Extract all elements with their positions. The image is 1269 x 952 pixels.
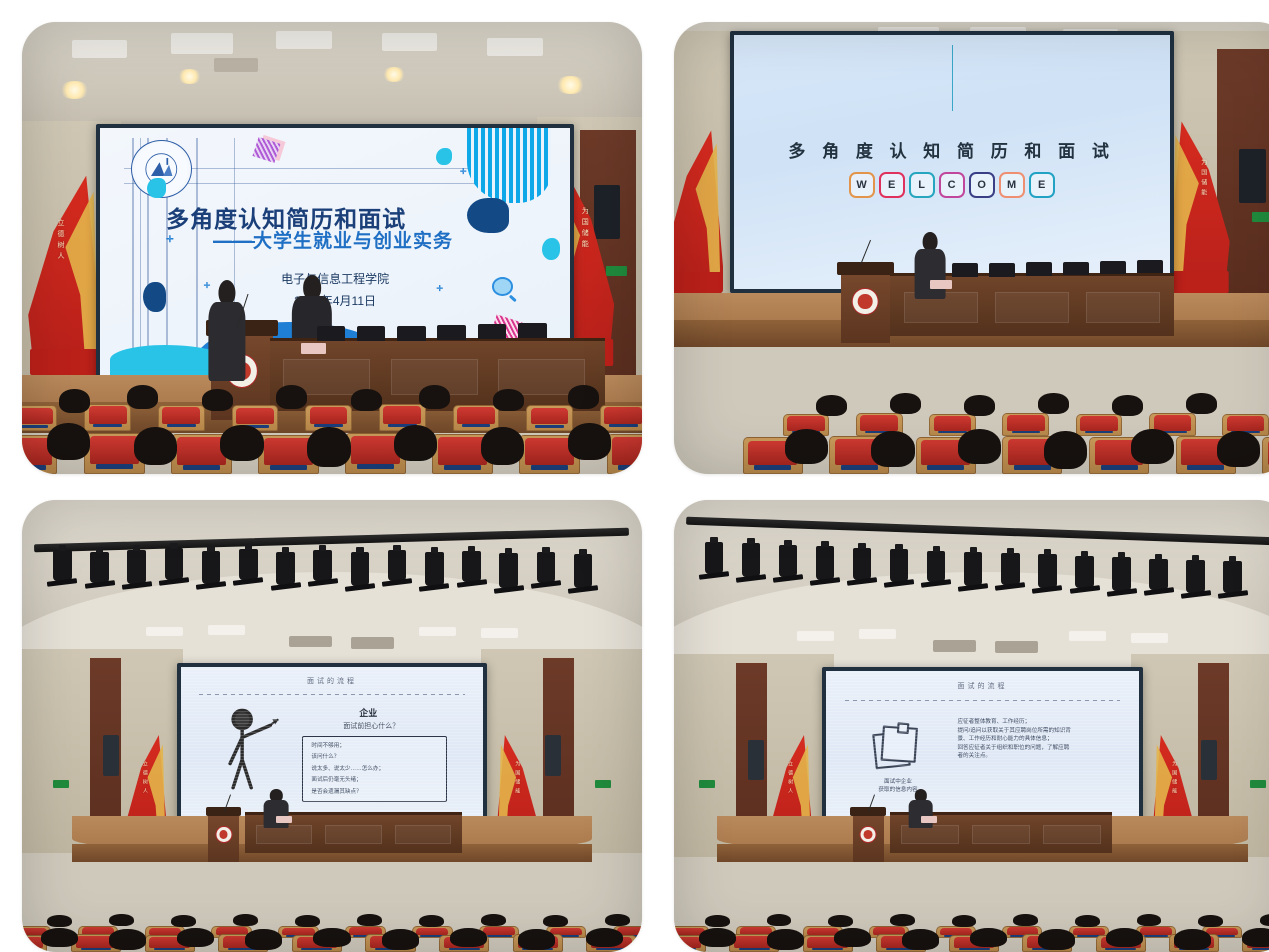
audience-head	[952, 915, 977, 927]
slide-subheading: ——大学生就业与创业实务	[213, 226, 453, 253]
slide-rule	[199, 694, 465, 695]
desk-monitor	[952, 263, 978, 277]
stage-light	[574, 554, 593, 587]
desk-monitor	[1026, 262, 1052, 276]
desk-monitor	[1137, 260, 1163, 274]
slide-decor-wave	[467, 128, 551, 203]
name-placard	[276, 816, 292, 822]
wall-speaker-right	[1239, 149, 1266, 203]
exit-sign	[1250, 780, 1266, 788]
stage-light	[779, 545, 798, 577]
stage-light	[890, 549, 909, 582]
notes-icon	[867, 718, 930, 776]
slide-bullet-box: 时间不够用； 该问什么？ 说太多、说太少……怎么办； 面试后仍毫无头绪； 是否会…	[302, 736, 447, 802]
ceiling-downlight	[382, 67, 407, 81]
bullet-item: 面试后仍毫无头绪；	[311, 775, 361, 783]
audience-head	[568, 423, 611, 459]
stage-light	[90, 552, 109, 584]
audience-head	[816, 395, 847, 416]
stage-light	[462, 551, 481, 583]
sail-characters: 为国储能	[515, 761, 522, 797]
audience-head	[705, 915, 730, 927]
stage-light	[53, 550, 72, 582]
ceiling-panel	[208, 625, 245, 635]
stage-light	[388, 550, 407, 582]
audience-head	[481, 914, 506, 926]
exit-sign	[699, 780, 715, 788]
welcome-letter-e1: E	[879, 172, 905, 198]
audience-head	[1260, 914, 1269, 926]
stage-light	[425, 552, 444, 585]
audience-head	[871, 431, 914, 467]
led-screen-frame: 面试的流程 企业 面试前担心什么？	[177, 663, 487, 821]
audience-head	[964, 395, 995, 416]
audience	[674, 839, 1269, 952]
slide-decor-blob	[147, 178, 166, 198]
audience-head	[134, 427, 177, 465]
photo-bottom-left[interactable]: 立德树人 为国储能 面试的流程	[22, 500, 642, 952]
bullet-item: 是否会遗漏其缺点？	[311, 787, 361, 795]
audience-head	[171, 915, 196, 927]
slide-body: 应征者整体教育、工作经历； 提问/追问以获取关于其应聘岗位所需的知识背 景、工作…	[957, 718, 1126, 761]
audience-head	[109, 929, 146, 949]
body-line: 回答应征者关于组织和职位的问题，了解应聘	[957, 744, 1126, 753]
stage-light	[1186, 560, 1205, 593]
audience-head	[902, 929, 939, 949]
sail-characters: 立德树人	[55, 219, 65, 263]
body-line: 者的关注点。	[957, 752, 1126, 761]
sail-characters: 为国储能	[580, 207, 590, 251]
audience	[22, 839, 642, 952]
welcome-letter-e2: E	[1029, 172, 1055, 198]
audience-head	[1106, 928, 1143, 947]
ceiling-panel	[72, 40, 128, 58]
audience-head	[1038, 393, 1069, 414]
audience-head	[59, 389, 90, 413]
ceiling-vent	[214, 58, 257, 72]
stage-light	[853, 548, 872, 580]
audience-head	[1038, 929, 1075, 949]
slide-decor-blob	[467, 198, 509, 233]
audience-head	[276, 385, 307, 409]
body-line: 提问/追问以获取关于其应聘岗位所需的知识背	[957, 727, 1126, 736]
audience-head	[1198, 915, 1223, 927]
audience-head	[177, 928, 214, 947]
audience	[674, 302, 1269, 474]
exit-sign	[595, 780, 611, 788]
photo-top-left[interactable]: 立德树人 为国储能	[22, 22, 642, 474]
audience-head	[767, 929, 804, 949]
stage-light	[1075, 556, 1094, 588]
audience-head	[1013, 914, 1038, 926]
caption-line: 面试中企业	[851, 779, 945, 787]
stage-light	[1001, 553, 1020, 585]
led-screen-frame: 多 角 度 认 知 简 历 和 面 试 W E L C O M E	[730, 31, 1174, 293]
audience-head	[419, 915, 444, 927]
ceiling-panel	[1131, 633, 1168, 643]
ceiling-downlight	[59, 81, 90, 99]
welcome-slide: 多 角 度 认 知 简 历 和 面 试 W E L C O M E	[734, 35, 1170, 289]
audience-head	[890, 914, 915, 926]
stage-light	[1223, 561, 1242, 593]
ceiling-panel	[859, 629, 896, 639]
audience-head	[767, 914, 792, 926]
sail-characters: 为国储能	[1171, 761, 1178, 797]
name-placard	[930, 280, 952, 289]
ceiling-panel	[419, 627, 456, 637]
stage-light	[1038, 554, 1057, 587]
stage-light	[276, 552, 295, 585]
audience-head	[958, 429, 1001, 463]
audience-head	[785, 429, 828, 463]
ceiling-panel	[481, 628, 518, 638]
wall-speaker-left	[748, 740, 764, 781]
stage-light	[705, 542, 724, 574]
audience-head	[605, 914, 630, 926]
audience-head	[351, 389, 382, 411]
audience-head	[419, 385, 450, 409]
slide-rule	[845, 700, 1120, 701]
audience-head	[127, 385, 158, 409]
seat	[1262, 437, 1269, 475]
name-placard	[921, 816, 937, 822]
audience-head	[1044, 431, 1087, 469]
audience-head	[109, 914, 134, 926]
welcome-letter-m: M	[999, 172, 1025, 198]
audience-head	[481, 427, 524, 465]
audience-head	[202, 389, 233, 411]
ceiling-panel	[487, 38, 543, 56]
stage-light	[165, 548, 184, 580]
audience-head	[382, 929, 419, 949]
audience-head	[699, 928, 736, 947]
audience-head	[970, 928, 1007, 947]
exit-sign	[53, 780, 69, 788]
stage-light	[927, 551, 946, 583]
ceiling-vent	[289, 636, 332, 648]
body-line: 景、工作经历和耐心能力的具体信息；	[957, 735, 1126, 744]
ceiling-panel	[1069, 631, 1106, 641]
sail-characters: 立德树人	[142, 761, 149, 797]
audience-head	[493, 389, 524, 411]
audience-head	[313, 928, 350, 947]
audience-head	[1217, 431, 1260, 467]
photo-top-right[interactable]: 为国储能 多 角 度 认 知 简 历 和 面 试 W E L C O M E	[674, 22, 1269, 474]
audience-head	[233, 914, 258, 926]
audience-head	[394, 425, 437, 461]
audience-head	[890, 393, 921, 414]
stage-light	[1149, 559, 1168, 591]
ceiling-panel	[797, 631, 834, 641]
audience-head	[41, 928, 78, 947]
stage-light	[127, 550, 146, 584]
ceiling-downlight	[177, 69, 202, 83]
audience-head	[307, 427, 350, 467]
stage-light	[202, 551, 221, 584]
audience-head	[1131, 429, 1174, 463]
audience-head	[568, 385, 599, 409]
ceiling-panel	[276, 31, 332, 49]
ceiling-panel	[171, 33, 233, 53]
audience	[22, 293, 642, 474]
stage-light	[1112, 557, 1131, 591]
slide-header: 面试的流程	[181, 676, 483, 686]
sail-decoration-left	[674, 130, 723, 293]
audience-head	[245, 929, 282, 949]
slide-header: 面试的流程	[826, 681, 1139, 691]
slide-kicker: 企业	[308, 706, 429, 719]
ceiling-vent	[995, 641, 1038, 653]
slide-decor-plus: ✛	[460, 168, 467, 176]
stage-light	[313, 550, 332, 582]
sail-characters: 立德树人	[787, 761, 794, 797]
stage-light	[964, 552, 983, 586]
slide-decor-blob	[436, 148, 452, 165]
audience-head	[295, 915, 320, 927]
audience-head	[1075, 915, 1100, 927]
sail-decoration-right: 为国储能	[1168, 121, 1230, 293]
welcome-letter-l: L	[909, 172, 935, 198]
podium-top	[837, 262, 894, 275]
audience-head	[1242, 928, 1269, 947]
welcome-letters: W E L C O M E	[734, 172, 1170, 198]
stage-light	[239, 549, 258, 581]
stickman-illustration	[220, 706, 280, 799]
audience-head	[1112, 395, 1143, 416]
audience-head	[47, 423, 90, 459]
slide-org: 电子与信息工程学院	[100, 270, 569, 287]
ceiling-panel	[146, 627, 183, 637]
wall-speaker-right	[545, 735, 561, 776]
ceiling-vent	[933, 640, 976, 652]
desk-monitor	[989, 263, 1015, 277]
welcome-letter-c: C	[939, 172, 965, 198]
slide-decor-dropline	[952, 45, 954, 111]
slide-question: 面试前担心什么？	[302, 721, 441, 731]
body-line: 应征者整体教育、工作经历；	[957, 718, 1126, 727]
audience-head	[357, 914, 382, 926]
interview-process-slide: 面试的流程 企业 面试前担心什么？	[181, 667, 483, 817]
podium-top	[206, 807, 242, 816]
audience-head	[834, 928, 871, 947]
stage-light	[816, 546, 835, 580]
welcome-heading: 多 角 度 认 知 简 历 和 面 试	[734, 137, 1170, 162]
led-screen-frame: 面试的流程 面试中企业 获取的信息内容 应征者整体教育、工作经历； 提问/追问以…	[822, 667, 1143, 821]
stage-light	[351, 552, 370, 586]
photo-collage: 立德树人 为国储能	[0, 0, 1269, 952]
desk-monitor	[1063, 262, 1089, 276]
stage-light	[537, 552, 556, 584]
audience-head	[828, 915, 853, 927]
exit-sign	[1252, 212, 1269, 222]
stage-light	[499, 553, 518, 587]
bullet-item: 时间不够用；	[311, 741, 345, 749]
bullet-item: 说太多、说太少……怎么办；	[311, 764, 384, 772]
photo-bottom-right[interactable]: 立德树人 为国储能 面试的流程 面试中企业 获取的信息内容	[674, 500, 1269, 952]
slide-decor-blob	[542, 238, 561, 260]
sail-characters: 为国储能	[1198, 159, 1207, 199]
audience-head	[1137, 914, 1162, 926]
slide-decor-plus: ✛	[166, 235, 174, 244]
audience-head	[518, 929, 555, 949]
audience-head	[543, 915, 568, 927]
bullet-item: 该问什么？	[311, 752, 339, 760]
welcome-letter-w: W	[849, 172, 875, 198]
audience-head	[450, 928, 487, 947]
stage-light	[742, 543, 761, 576]
desk-monitor	[1100, 261, 1126, 275]
audience-head	[586, 928, 623, 947]
wall-speaker-left	[103, 735, 119, 776]
welcome-letter-o: O	[969, 172, 995, 198]
wall-speaker-right	[1201, 740, 1217, 781]
ceiling-vent	[351, 637, 394, 649]
seat	[607, 434, 642, 474]
ceiling-panel	[382, 33, 438, 51]
audience-head	[47, 915, 72, 927]
audience-head	[220, 425, 263, 461]
audience-head	[1186, 393, 1217, 414]
audience-head	[1174, 929, 1211, 949]
